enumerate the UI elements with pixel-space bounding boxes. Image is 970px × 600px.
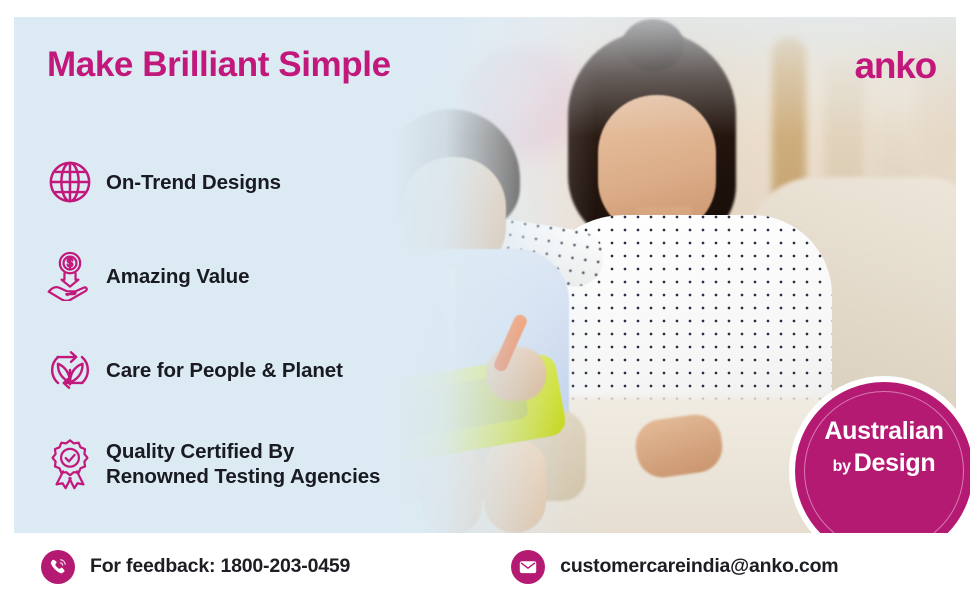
phone-text: For feedback: 1800-203-0459 <box>90 555 350 578</box>
badge-line-by-design: byDesign <box>795 449 970 478</box>
feature-item-quality-certified: Quality Certified By Renowned Testing Ag… <box>34 417 464 511</box>
envelope-icon <box>511 550 545 584</box>
feature-item-care-for-people-planet: Care for People & Planet <box>34 323 464 417</box>
badge-by-word: by <box>833 458 851 475</box>
feature-label: On-Trend Designs <box>106 170 281 195</box>
contact-email[interactable]: customercareindia@anko.com <box>511 550 838 584</box>
feature-label: Care for People & Planet <box>106 358 343 383</box>
feature-label-line1: On-Trend Designs <box>106 171 281 194</box>
feature-label-line1: Quality Certified By <box>106 440 294 463</box>
phone-icon <box>41 550 75 584</box>
contact-phone[interactable]: For feedback: 1800-203-0459 <box>41 550 350 584</box>
feature-label-line1: Care for People & Planet <box>106 359 343 382</box>
anko-logo: anko <box>854 45 936 87</box>
feature-item-on-trend-designs: On-Trend Designs <box>34 135 464 229</box>
promo-banner: Make Brilliant Simple anko On-Tren <box>0 0 970 600</box>
feature-label-line1: Amazing Value <box>106 265 249 288</box>
feature-label-line2: Renowned Testing Agencies <box>106 465 380 488</box>
feature-label: Amazing Value <box>106 264 249 289</box>
award-ribbon-icon <box>34 438 106 490</box>
feature-label: Quality Certified By Renowned Testing Ag… <box>106 439 380 489</box>
badge-line-australian: Australian <box>795 418 970 446</box>
feature-item-amazing-value: Amazing Value <box>34 229 464 323</box>
page-title: Make Brilliant Simple <box>47 45 391 85</box>
hand-coin-icon <box>34 251 106 301</box>
badge-design-word: Design <box>854 449 936 477</box>
feature-list: On-Trend Designs Amazing V <box>34 135 464 511</box>
recycle-leaf-icon <box>34 346 106 394</box>
contact-footer: For feedback: 1800-203-0459 customercare… <box>0 533 970 600</box>
email-text: customercareindia@anko.com <box>560 555 838 578</box>
badge-text: Australian byDesign <box>795 418 970 477</box>
globe-icon <box>34 159 106 205</box>
